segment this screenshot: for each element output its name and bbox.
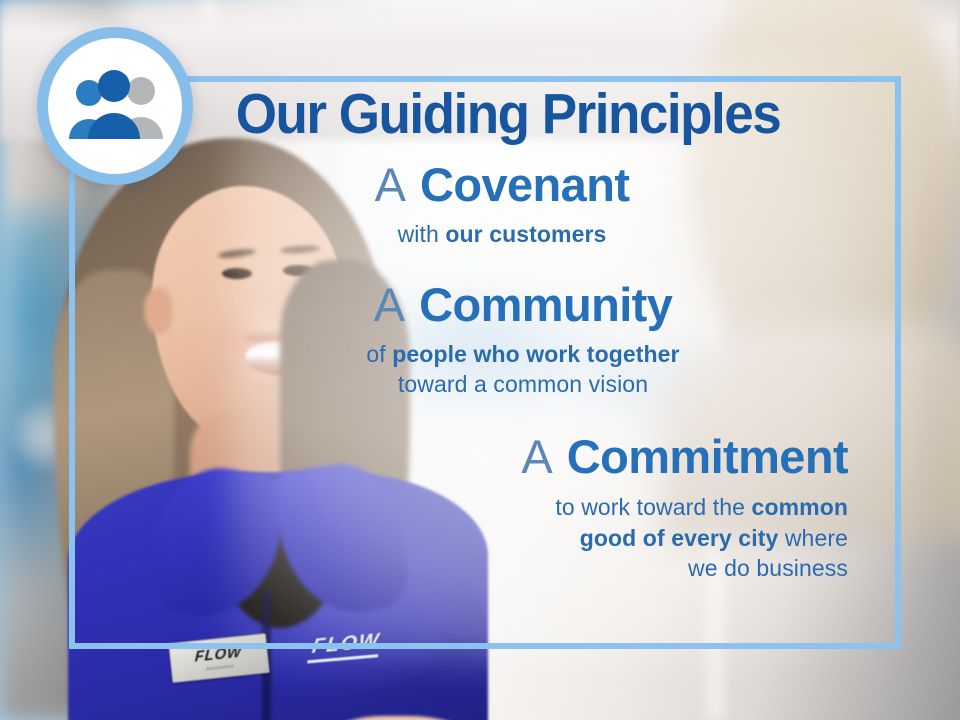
subtext-emphasis: common (752, 494, 848, 520)
subtext-plain: where (778, 525, 848, 551)
subtext-emphasis: people who work together (392, 341, 679, 367)
principle-article: A (374, 278, 406, 331)
promo-graphic: FLOW FLOW Automotive Our Guiding Princip… (0, 0, 960, 720)
principle-article: A (375, 158, 407, 211)
principles-list: A Covenant with our customers A Communit… (150, 159, 866, 584)
principle-heading: A Covenant (138, 159, 866, 212)
principle-subtext: to work toward the commongood of every c… (150, 492, 848, 584)
principle-covenant: A Covenant with our customers (138, 159, 866, 249)
subtext-emphasis: our customers (445, 221, 606, 247)
principle-community: A Community of people who work togethert… (180, 279, 866, 399)
subtext-plain: to work toward the (555, 494, 751, 520)
principle-subtext: of people who work togethertoward a comm… (180, 340, 866, 400)
principle-word: Community (419, 278, 672, 331)
subtext-plain: with (398, 221, 446, 247)
subtext-emphasis: good of every city (580, 525, 779, 551)
principle-word: Commitment (567, 430, 848, 483)
text-content: Our Guiding Principles A Covenant with o… (150, 86, 866, 588)
principle-heading: A Commitment (150, 431, 848, 484)
page-title: Our Guiding Principles (175, 86, 841, 143)
principle-word: Covenant (420, 158, 629, 211)
principle-subtext: with our customers (138, 219, 866, 249)
principle-heading: A Community (180, 279, 866, 332)
principle-commitment: A Commitment to work toward the commongo… (150, 431, 866, 583)
subtext-plain: we do business (688, 555, 848, 581)
principle-article: A (521, 430, 553, 483)
name-badge-subtext: Automotive (206, 663, 234, 672)
subtext-plain: of (366, 341, 392, 367)
subtext-plain: toward a common vision (398, 371, 648, 397)
